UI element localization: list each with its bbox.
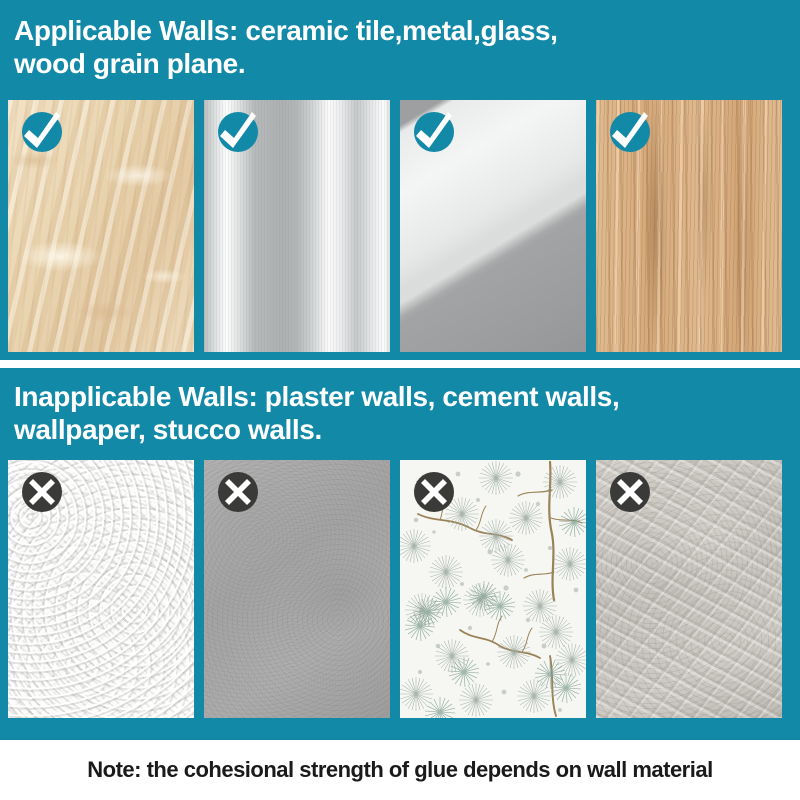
inapplicable-heading: Inapplicable Walls: plaster walls, cemen… — [0, 368, 800, 446]
cross-badge-icon — [606, 468, 654, 516]
panel-wallpaper — [400, 460, 586, 718]
panel-glass — [400, 100, 586, 352]
check-badge-icon — [410, 108, 458, 156]
cross-badge-icon — [410, 468, 458, 516]
panel-wood-grain-plane — [596, 100, 782, 352]
panel-metal — [204, 100, 390, 352]
check-badge-icon — [18, 108, 66, 156]
inapplicable-panel-row — [8, 460, 782, 718]
footer-note-text: Note: the cohesional strength of glue de… — [87, 757, 712, 783]
infographic-root: Applicable Walls: ceramic tile,metal,gla… — [0, 0, 800, 800]
cross-badge-icon — [214, 468, 262, 516]
applicable-walls-section: Applicable Walls: ceramic tile,metal,gla… — [0, 0, 800, 360]
check-badge-icon — [214, 108, 262, 156]
panel-ceramic-tile — [8, 100, 194, 352]
panel-plaster-wall — [8, 460, 194, 718]
check-badge-icon — [606, 108, 654, 156]
panel-cement-wall — [204, 460, 390, 718]
footer-note-bar: Note: the cohesional strength of glue de… — [0, 740, 800, 800]
panel-stucco-wall — [596, 460, 782, 718]
inapplicable-walls-section: Inapplicable Walls: plaster walls, cemen… — [0, 368, 800, 740]
cross-badge-icon — [18, 468, 66, 516]
applicable-heading: Applicable Walls: ceramic tile,metal,gla… — [0, 0, 800, 80]
applicable-panel-row — [8, 100, 782, 352]
section-divider — [0, 360, 800, 368]
